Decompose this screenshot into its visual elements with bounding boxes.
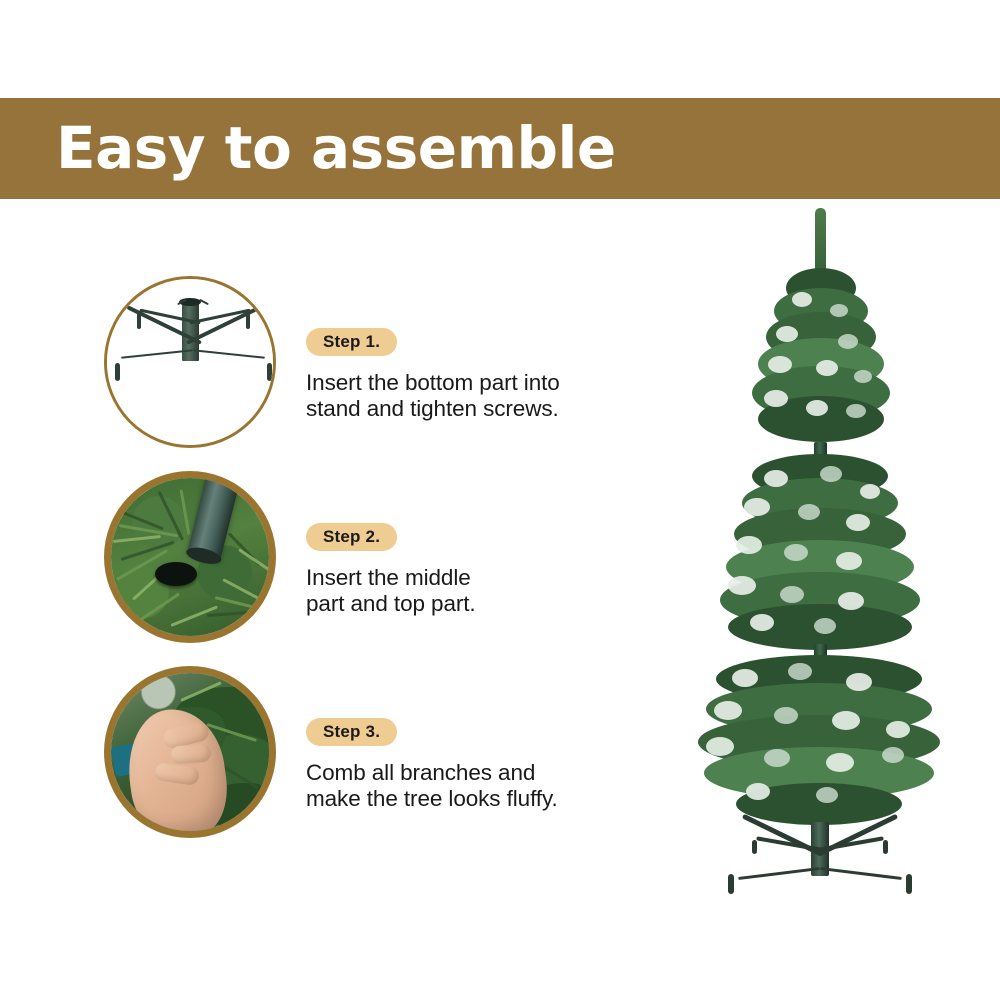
- frost-tip: [776, 326, 798, 342]
- frost-tip: [882, 747, 904, 763]
- base-foot-right: [906, 874, 912, 894]
- header-banner: Easy to assemble: [0, 98, 1000, 199]
- stand-foot-left: [115, 363, 120, 381]
- frost-tip: [838, 592, 864, 610]
- frost-tip: [736, 536, 762, 554]
- tree-section-bottom: [640, 655, 1000, 835]
- page-title: Easy to assemble: [56, 118, 616, 176]
- frost-tip: [706, 737, 734, 756]
- frost-tip: [714, 701, 742, 720]
- frost-tip: [816, 787, 838, 803]
- frost-tip: [846, 673, 872, 691]
- base-foot-left: [728, 874, 734, 894]
- step-2-badge: Step 2.: [306, 523, 397, 551]
- step-2-text-block: Step 2. Insert the middle part and top p…: [306, 523, 636, 617]
- needle: [180, 489, 191, 535]
- christmas-tree-product-image: [640, 200, 1000, 900]
- base-foot-back-left: [752, 840, 757, 854]
- frost-tip: [816, 360, 838, 376]
- frost-tip: [732, 669, 758, 687]
- frost-tip: [814, 618, 836, 634]
- frost-tip: [792, 292, 812, 307]
- frost-tip: [886, 721, 910, 738]
- tree-section-top: [640, 200, 1000, 450]
- branch-combing-photo: [104, 666, 276, 838]
- hand-combing-illustration: [111, 673, 269, 831]
- stand-socket-hole: [155, 562, 197, 586]
- tree-stand-photo: [104, 276, 276, 448]
- needle: [238, 548, 273, 573]
- step-3-badge: Step 3.: [306, 718, 397, 746]
- step-3-text-block: Step 3. Comb all branches and make the t…: [306, 718, 636, 812]
- stand-foot-right: [267, 363, 272, 381]
- tree-base-stand: [720, 828, 920, 900]
- insert-pole: [187, 471, 241, 561]
- frost-tip: [728, 576, 756, 595]
- step-3-description: Comb all branches and make the tree look…: [306, 760, 636, 812]
- pine-needles-closeup: [111, 478, 269, 636]
- frost-tip: [746, 783, 770, 800]
- frost-tip: [836, 552, 862, 570]
- frost-tip: [846, 404, 866, 418]
- frost-tip: [846, 514, 870, 531]
- stand-leg-cross-right: [193, 349, 265, 359]
- step-1-text-block: Step 1. Insert the bottom part into stan…: [306, 328, 636, 422]
- base-cross-left: [738, 867, 820, 880]
- frost-tip: [784, 544, 808, 561]
- frost-tip: [750, 614, 774, 631]
- frost-tip: [744, 498, 770, 516]
- frost-tip: [780, 586, 804, 603]
- frost-tip: [838, 334, 858, 349]
- needle: [113, 535, 161, 543]
- frost-tip: [854, 370, 872, 383]
- frost-tip: [830, 304, 848, 317]
- insert-pole-end: [185, 545, 223, 567]
- needle: [207, 610, 263, 617]
- base-foot-back-right: [883, 840, 888, 854]
- frost-tip: [764, 470, 788, 487]
- frost-tip: [764, 390, 788, 407]
- frost-tip: [832, 711, 860, 730]
- frost-tip: [798, 504, 820, 520]
- step-1-badge: Step 1.: [306, 328, 397, 356]
- tree-stand-illustration: [107, 279, 273, 445]
- base-cross-right: [820, 867, 902, 880]
- frost-tip: [788, 663, 812, 680]
- frost-tip: [826, 753, 854, 772]
- tree-section-middle: [640, 452, 1000, 652]
- frost-tip: [764, 749, 790, 767]
- frost-tip: [774, 707, 798, 724]
- frost-tip: [860, 484, 880, 499]
- step-2-description: Insert the middle part and top part.: [306, 565, 636, 617]
- frost-tip: [806, 400, 828, 416]
- finger-thumb: [170, 744, 211, 765]
- frost-tip: [768, 356, 792, 373]
- pole-insertion-photo: [104, 471, 276, 643]
- step-1-description: Insert the bottom part into stand and ti…: [306, 370, 636, 422]
- frost-tip: [820, 466, 842, 482]
- needle: [140, 593, 180, 621]
